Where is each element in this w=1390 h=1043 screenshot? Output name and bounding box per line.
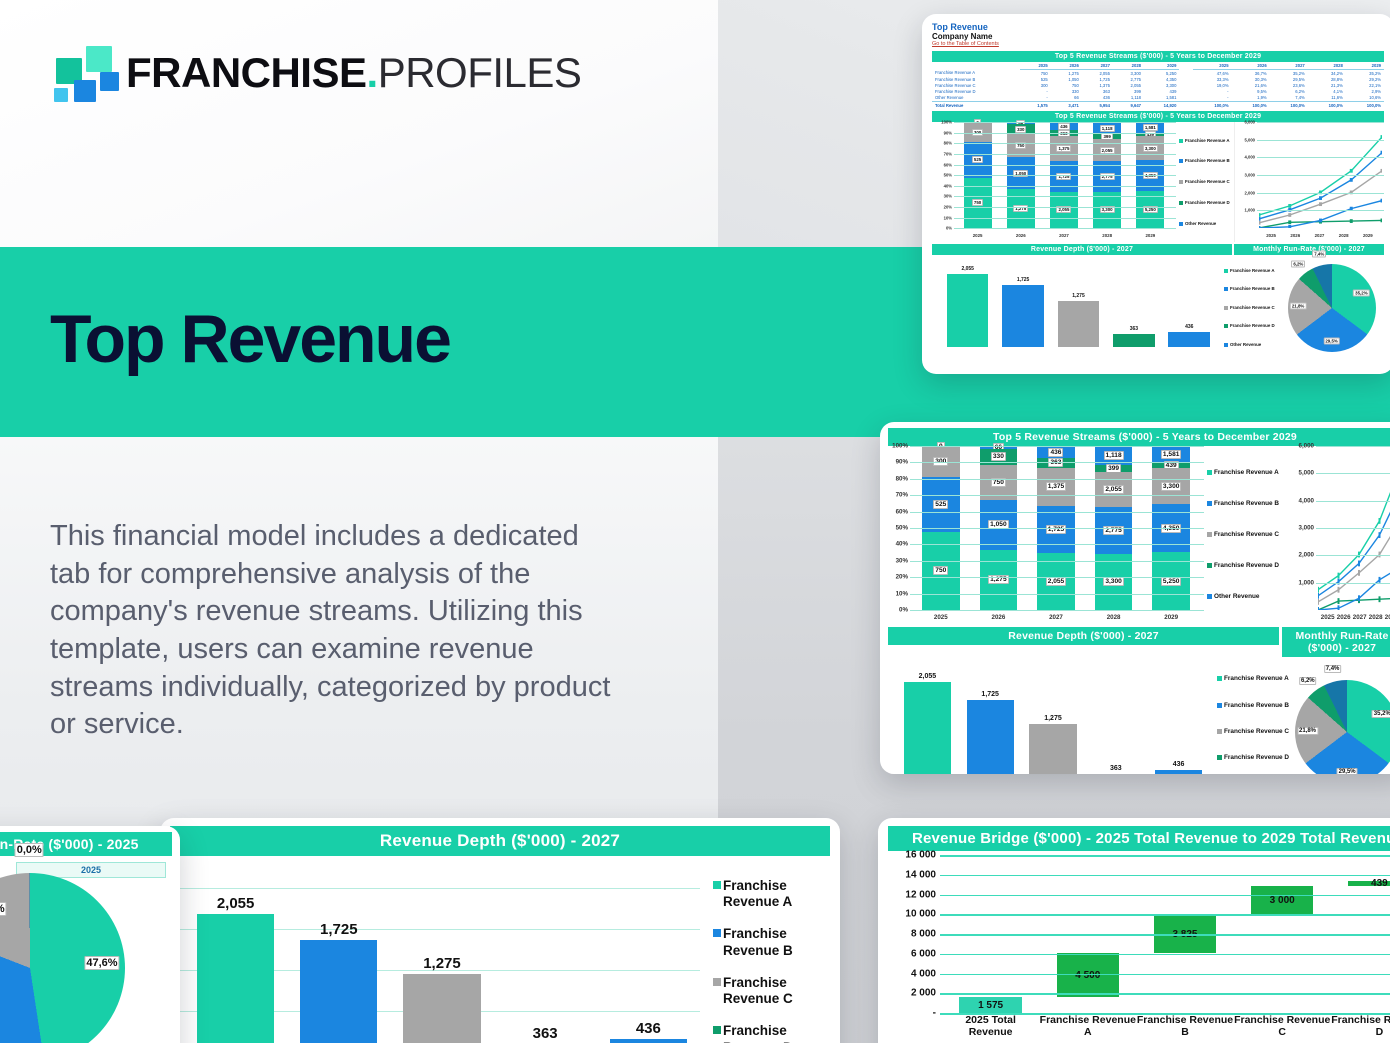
y-tick: 100% (892, 443, 908, 450)
legend-item-label: Franchise Revenue C (1214, 531, 1279, 539)
screenshot-card-revenue-depth: Revenue Depth ($'000) - 2027 2,055 1,725… (160, 818, 840, 1043)
depth-bar: 1,275 (403, 974, 480, 1043)
pie-slice-label: 29,5% (1337, 768, 1358, 774)
y-tick: 100% (941, 120, 952, 125)
stack-segment: 436 (1037, 446, 1074, 458)
pie-chart: 35,2%29,5%21,8%6,2%7,4% (1295, 680, 1390, 774)
legend-item: Franchise Revenue D (1207, 562, 1282, 570)
depth-bar-value: 1,725 (300, 921, 377, 938)
y-tick: 90% (896, 459, 908, 466)
revenue-bridge-plot: -2 0004 0006 0008 00010 00012 00014 0001… (888, 855, 1390, 1031)
legend-item: Franchise Revenue A (713, 878, 830, 911)
y-tick: 14 000 (905, 869, 936, 880)
legend-item: Franchise Revenue A (1217, 675, 1292, 683)
depth-bar-value: 436 (1155, 761, 1202, 768)
depth-bar: 1,725 (300, 940, 377, 1043)
stack-segment: 3,300 (1152, 468, 1189, 504)
table-col-header: 2025 (1020, 62, 1051, 70)
x-tick: 2026 (980, 614, 1017, 621)
x-tick: 2029 (1385, 614, 1390, 621)
pie-slice-label: 19,0% (0, 902, 7, 916)
depth-bar: 1,725 (1002, 285, 1044, 347)
legend-item-label: Franchise Revenue D (1214, 562, 1279, 570)
legend-swatch-icon (1207, 563, 1212, 568)
y-tick: 10% (896, 590, 908, 597)
legend-item-label: Franchise Revenue D (1224, 754, 1289, 762)
table-col-header-pct: 2029 (1346, 62, 1384, 70)
pie-slice-label: 0,0% (15, 843, 44, 857)
y-tick: 4 000 (911, 968, 936, 979)
y-tick: 40% (896, 541, 908, 548)
depth-bar: 2,055 (197, 914, 274, 1043)
legend-item-label: Franchise Revenue C (1224, 728, 1289, 736)
pie-slice-label: 7,4% (1324, 665, 1342, 673)
gridline (940, 895, 1390, 897)
x-tick: 2028 (1336, 233, 1352, 238)
legend-item-label: Other Revenue (1185, 221, 1216, 227)
depth-chart-banner-large: Revenue Depth ($'000) - 2027 (888, 627, 1279, 645)
y-tick: 60% (896, 508, 908, 515)
waterfall-bar: 3 000 (1251, 886, 1313, 916)
stack-segment: 2,055 (1037, 553, 1074, 610)
legend-item: Franchise Revenue C (1207, 531, 1282, 539)
legend-item: Franchise Revenue D (1179, 200, 1234, 206)
stacked-y-axis: 0%10%20%30%40%50%60%70%80%90%100% (932, 122, 954, 228)
legend-item-label: Franchise Revenue B (1185, 158, 1230, 164)
legend-swatch-icon (713, 978, 721, 986)
legend-item-label: Franchise Revenue A (1230, 268, 1275, 274)
y-tick: 2,000 (1245, 190, 1255, 195)
depth-bar: 436 (610, 1039, 687, 1043)
depth-bar-chart: 2,055 1,725 1,275 363 436 (932, 255, 1221, 360)
y-tick: 70% (896, 492, 908, 499)
depth-bar: 436 (1155, 770, 1202, 774)
legend-item: Other Revenue (1207, 593, 1282, 601)
x-tick: 2026 (1287, 233, 1303, 238)
x-tick: 2025 (1321, 614, 1331, 621)
bridge-y-axis: -2 0004 0006 0008 00010 00012 00014 0001… (888, 855, 940, 1013)
legend-item-label: Franchise Revenue B (1230, 286, 1275, 292)
table-total-row: Total Revenue 1,5753,4715,9549,64714,920… (932, 101, 1384, 108)
y-tick: 20% (896, 574, 908, 581)
gridline (940, 974, 1390, 976)
gridline (940, 1013, 1390, 1015)
waterfall-bar-value: 1 575 (978, 1000, 1003, 1011)
y-tick: 1,000 (1245, 208, 1255, 213)
x-tick: Franchise Revenue C (1234, 1014, 1331, 1031)
y-tick: 90% (944, 130, 952, 135)
legend-item: Other Revenue (1179, 221, 1234, 227)
table-col-header: 2028 (1113, 62, 1144, 70)
stack-segment: 525 (922, 477, 959, 532)
legend-item: Franchise Revenue D (713, 1023, 830, 1043)
pie-slice-label: 35,2% (1372, 710, 1390, 718)
depth-bar: 2,055 (904, 682, 951, 774)
y-tick: 0% (946, 226, 952, 231)
table-col-header: 2026 (1051, 62, 1082, 70)
depth-bar-value: 1,275 (1029, 715, 1076, 722)
brand-logo: FRANCHISE.PROFILES (48, 44, 581, 102)
page-description: This financial model includes a dedicate… (50, 518, 620, 744)
stacked-column-chart: 0%10%20%30%40%50%60%70%80%90%100% 003005… (932, 122, 1234, 242)
legend-item-label: Franchise Revenue D (723, 1023, 830, 1043)
stacked-x-axis: 20252026202720282029 (956, 229, 1172, 242)
stack-segment: 2,055 (1093, 139, 1121, 162)
y-tick: 20% (944, 204, 952, 209)
legend-item-label: Franchise Revenue B (1224, 702, 1289, 710)
legend-swatch-icon (1224, 269, 1228, 273)
y-tick: 1,000 (1299, 579, 1314, 586)
y-tick: 5,000 (1245, 137, 1255, 142)
stack-segment: 525 (964, 142, 992, 177)
depth-chart-legend-large: Franchise Revenue A Franchise Revenue B … (1214, 657, 1292, 774)
x-tick: 2029 (1136, 233, 1164, 238)
y-tick: 80% (944, 141, 952, 146)
x-tick: 2025 (1263, 233, 1279, 238)
legend-item: Franchise Revenue C (713, 975, 830, 1008)
stacked-y-axis-large: 0%10%20%30%40%50%60%70%80%90%100% (888, 446, 910, 610)
stack-segment: 1,375 (1037, 468, 1074, 506)
legend-item: Other Revenue (1224, 342, 1279, 348)
x-tick: Franchise Revenue D (1331, 1014, 1390, 1031)
x-tick: 2028 (1093, 233, 1121, 238)
depth-bar: 363 (1113, 334, 1155, 347)
legend-item: Franchise Revenue C (1217, 728, 1292, 736)
logo-word-light: PROFILES (378, 49, 582, 96)
depth-bar-value: 1,725 (967, 691, 1014, 698)
table-row: Other Revenue -664361,1181,581 -1,9%7,4%… (932, 95, 1384, 102)
legend-item: Franchise Revenue B (1207, 500, 1282, 508)
depth-bar-value: 363 (1092, 765, 1139, 772)
table-of-contents-link[interactable]: Go to the Table of Contents (932, 41, 1384, 47)
stacked-column-chart-large: 0%10%20%30%40%50%60%70%80%90%100% 003005… (888, 446, 1282, 624)
pie-chart: 47,6%33,3%19,0%0,0%0,0% (0, 873, 125, 1043)
legend-swatch-icon (1224, 306, 1228, 310)
x-tick: 2026 (1337, 614, 1347, 621)
pie-slice-label: 35,2% (1353, 289, 1369, 296)
y-tick: 4,000 (1299, 497, 1314, 504)
pie-slice-label: 7,4% (1312, 251, 1326, 258)
waterfall-bar-value: 3 000 (1270, 895, 1295, 906)
legend-item: Franchise Revenue B (1179, 158, 1234, 164)
legend-item: Franchise Revenue A (1224, 268, 1279, 274)
y-tick: 3,000 (1245, 173, 1255, 178)
screenshot-card-detail: Top 5 Revenue Streams ($'000) - 5 Years … (880, 422, 1390, 774)
y-tick: 4,000 (1245, 155, 1255, 160)
x-tick: 2027 (1050, 233, 1078, 238)
y-tick: 10% (944, 215, 952, 220)
depth-bar-value: 1,275 (1058, 293, 1100, 299)
legend-item: Franchise Revenue B (1217, 702, 1292, 710)
legend-swatch-icon (1224, 324, 1228, 328)
y-tick: 6,000 (1299, 443, 1314, 450)
table-col-header: 2029 (1144, 62, 1179, 70)
y-tick: 30% (896, 557, 908, 564)
legend-swatch-icon (1224, 287, 1228, 291)
screenshot-card-run-rate-pie: Monthly Run-Rate ($'000) - 2025 2025 47,… (0, 826, 180, 1043)
table-col-header-pct: 2027 (1270, 62, 1308, 70)
depth-bar-value: 2,055 (197, 895, 274, 912)
waterfall-bar: 1 575 (959, 997, 1021, 1013)
stack-segment: 1,050 (980, 500, 1017, 550)
revenue-table: 2025202620272028202920252026202720282029… (932, 62, 1384, 108)
waterfall-bar-value: 439 (1371, 878, 1388, 889)
stack-segment: 1,375 (1050, 136, 1078, 160)
legend-swatch-icon (1179, 222, 1183, 226)
pie-slice-label: 6,2% (1291, 261, 1305, 268)
run-rate-line-chart: 1,0002,0003,0004,0005,0006,000 202520262… (1234, 122, 1384, 242)
logo-dot: . (367, 49, 378, 96)
y-tick: 2 000 (911, 988, 936, 999)
runrate-chart-banner: Monthly Run-Rate ($'000) - 2027 (1234, 244, 1384, 255)
x-tick: 2028 (1369, 614, 1379, 621)
gridline (940, 875, 1390, 877)
stack-segment: 2,775 (1095, 507, 1132, 554)
table-row-label: Other Revenue (932, 95, 1020, 102)
legend-item: Franchise Revenue B (1224, 286, 1279, 292)
stack-segment: 2,055 (1095, 472, 1132, 507)
legend-swatch-icon (1224, 343, 1228, 347)
y-tick: 5,000 (1299, 470, 1314, 477)
legend-item: Franchise Revenue C (1224, 305, 1279, 311)
legend-swatch-icon (1179, 180, 1183, 184)
x-tick: 2029 (1152, 614, 1189, 621)
legend-item: Franchise Revenue A (1179, 138, 1234, 144)
line-y-axis: 1,0002,0003,0004,0005,0006,000 (1235, 122, 1257, 228)
revenue-depth-legend: Franchise Revenue A Franchise Revenue B … (710, 862, 830, 1043)
legend-item: Franchise Revenue D (1224, 323, 1279, 329)
pie-slice-label: 47,6% (84, 956, 119, 970)
y-tick: 6 000 (911, 948, 936, 959)
y-tick: 30% (944, 194, 952, 199)
line-x-axis-large: 20252026202720282029 (1318, 611, 1390, 624)
legend-item-label: Franchise Revenue C (723, 975, 830, 1008)
legend-swatch-icon (1207, 470, 1212, 475)
depth-bar: 436 (1168, 332, 1210, 348)
x-tick: 2027 (1037, 614, 1074, 621)
legend-item-label: Franchise Revenue B (723, 926, 830, 959)
legend-item-label: Franchise Revenue C (1185, 179, 1230, 185)
gridline (940, 914, 1390, 916)
legend-item-label: Franchise Revenue A (1185, 138, 1230, 144)
stacked-chart-banner: Top 5 Revenue Streams ($'000) - 5 Years … (932, 111, 1384, 122)
logo-wordmark: FRANCHISE.PROFILES (126, 49, 581, 97)
legend-item-label: Franchise Revenue D (1230, 323, 1275, 329)
revenue-depth-plot: 2,055 1,725 1,275 363 436 (170, 862, 710, 1043)
stacked-chart-legend: Franchise Revenue A Franchise Revenue B … (1176, 122, 1234, 242)
waterfall-bar-value: 4 500 (1075, 970, 1100, 981)
depth-bar-value: 1,725 (1002, 277, 1044, 283)
stack-segment: 3,300 (1136, 136, 1164, 159)
y-tick: 2,000 (1299, 552, 1314, 559)
x-tick: 2027 (1312, 233, 1328, 238)
legend-swatch-icon (1217, 703, 1222, 708)
depth-chart-banner: Revenue Depth ($'000) - 2027 (932, 244, 1232, 255)
y-tick: 6,000 (1245, 120, 1255, 125)
legend-swatch-icon (713, 929, 721, 937)
stack-segment: 1,275 (980, 550, 1017, 610)
x-tick: 2026 (1007, 233, 1035, 238)
depth-bar: 1,275 (1058, 301, 1100, 347)
x-tick: 2028 (1095, 614, 1132, 621)
line-y-axis-large: 1,0002,0003,0004,0005,0006,000 (1282, 446, 1316, 610)
legend-swatch-icon (1207, 532, 1212, 537)
table-col-header-pct: 2025 (1193, 62, 1231, 70)
y-tick: 10 000 (905, 909, 936, 920)
runrate-chart-banner-large: Monthly Run-Rate ($'000) - 2027 (1282, 627, 1390, 657)
waterfall-bar: 439 (1348, 881, 1390, 885)
gridline (940, 855, 1390, 857)
slide-canvas: FRANCHISE.PROFILES Top Revenue This fina… (0, 0, 1390, 1043)
legend-item-label: Franchise Revenue A (723, 878, 830, 911)
waterfall-bar: 4 500 (1057, 953, 1119, 997)
table-col-header-pct: 2026 (1232, 62, 1270, 70)
table-header-banner: Top 5 Revenue Streams ($'000) - 5 Years … (932, 51, 1384, 62)
gridline (940, 954, 1390, 956)
stacked-chart-legend-large: Franchise Revenue A Franchise Revenue B … (1204, 446, 1282, 624)
legend-item-label: Other Revenue (1230, 342, 1261, 348)
legend-item-label: Other Revenue (1214, 593, 1259, 601)
depth-bar-value: 1,275 (403, 955, 480, 972)
pie-slice-label: 6,2% (1299, 677, 1317, 685)
stacked-x-axis-large: 20252026202720282029 (912, 611, 1200, 624)
logo-mark-icon (48, 44, 110, 102)
table-row: Franchise Revenue A 7501,2752,0553,3005,… (932, 70, 1384, 77)
y-tick: 3,000 (1299, 525, 1314, 532)
gridline (940, 993, 1390, 995)
legend-item-label: Franchise Revenue C (1230, 305, 1275, 311)
x-tick: 2027 (1353, 614, 1363, 621)
revenue-depth-title: Revenue Depth ($'000) - 2027 (170, 826, 830, 856)
revenue-split-pie-large: 35,2%29,5%21,8%6,2%7,4% (1292, 657, 1390, 774)
depth-bar-value: 436 (610, 1020, 687, 1037)
depth-bar-value: 2,055 (947, 266, 989, 272)
depth-bar-value: 363 (1113, 326, 1155, 332)
depth-bar: 2,055 (947, 274, 989, 348)
y-tick: 40% (944, 183, 952, 188)
y-tick: 80% (896, 475, 908, 482)
run-rate-line-chart-large: 1,0002,0003,0004,0005,0006,000 202520262… (1282, 446, 1390, 624)
revenue-split-pie: 35,2%29,5%21,8%6,2%7,4% (1279, 255, 1384, 360)
stack-segment: 1,725 (1037, 506, 1074, 554)
table-col-header: 2027 (1082, 62, 1113, 70)
x-tick: 2025 (922, 614, 959, 621)
legend-swatch-icon (1207, 594, 1212, 599)
y-tick: 12 000 (905, 889, 936, 900)
stacked-chart-banner-large: Top 5 Revenue Streams ($'000) - 5 Years … (888, 428, 1390, 446)
depth-chart-banner-wrap: Revenue Depth ($'000) - 2027 (932, 244, 1232, 255)
depth-bar: 1,275 (1029, 724, 1076, 774)
x-tick: Franchise Revenue B (1136, 1014, 1233, 1031)
y-tick: - (933, 1008, 936, 1019)
legend-swatch-icon (1217, 729, 1222, 734)
y-tick: 8 000 (911, 929, 936, 940)
y-tick: 50% (896, 525, 908, 532)
legend-swatch-icon (1179, 159, 1183, 163)
stack-segment: 399 (1095, 465, 1132, 472)
logo-word-bold: FRANCHISE (126, 49, 367, 96)
pie-slice-label: 21,8% (1290, 303, 1306, 310)
pie-chart: 35,2%29,5%21,8%6,2%7,4% (1288, 264, 1376, 352)
legend-item-label: Franchise Revenue D (1185, 200, 1230, 206)
legend-item: Franchise Revenue A (1207, 469, 1282, 477)
depth-bar-value: 436 (1168, 324, 1210, 330)
bridge-x-axis: 2025 Total RevenueFranchise Revenue AFra… (942, 1014, 1390, 1031)
x-tick: 2025 (964, 233, 992, 238)
legend-swatch-icon (1217, 755, 1222, 760)
table-col-header-pct: 2028 (1308, 62, 1346, 70)
stack-segment: 3,300 (1095, 554, 1132, 610)
x-tick: 2029 (1360, 233, 1376, 238)
depth-bar-chart-large: 2,055 1,725 1,275 363 436 (888, 657, 1214, 774)
depth-bar-value: 2,055 (904, 673, 951, 680)
depth-bar-value: 363 (506, 1025, 583, 1042)
y-tick: 70% (944, 151, 952, 156)
legend-item-label: Franchise Revenue A (1214, 469, 1279, 477)
x-tick: Franchise Revenue A (1039, 1014, 1136, 1031)
depth-bar: 1,725 (967, 700, 1014, 774)
sheet-subtitle: Company Name (932, 32, 1384, 41)
screenshot-card-overview: Top Revenue Company Name Go to the Table… (922, 14, 1390, 374)
legend-swatch-icon (1179, 201, 1183, 205)
gridline (940, 934, 1390, 936)
legend-item: Franchise Revenue D (1217, 754, 1292, 762)
pie-slice-label: 29,5% (1323, 338, 1339, 345)
y-tick: 60% (944, 162, 952, 167)
background-panel-top-left (0, 0, 718, 247)
table-row-label: Franchise Revenue A (932, 70, 1020, 77)
screenshot-card-revenue-bridge: Revenue Bridge ($'000) - 2025 Total Reve… (878, 818, 1390, 1043)
stack-segment: 1,050 (1007, 157, 1035, 189)
stack-segment: 1,275 (1007, 189, 1035, 228)
legend-item-label: Franchise Revenue B (1214, 500, 1279, 508)
x-tick: 2025 Total Revenue (942, 1014, 1039, 1031)
runrate-banner-wrap: Monthly Run-Rate ($'000) - 2027 (1234, 244, 1384, 255)
pie-slice-label: 21,8% (1297, 727, 1318, 735)
legend-item: Franchise Revenue B (713, 926, 830, 959)
y-tick: 0% (899, 607, 908, 614)
depth-chart-legend: Franchise Revenue A Franchise Revenue B … (1221, 255, 1279, 360)
page-title: Top Revenue (50, 305, 450, 373)
stack-segment: 2,775 (1093, 161, 1121, 191)
legend-item-label: Franchise Revenue A (1224, 675, 1289, 683)
revenue-bridge-title: Revenue Bridge ($'000) - 2025 Total Reve… (888, 826, 1390, 851)
legend-swatch-icon (1217, 676, 1222, 681)
legend-swatch-icon (713, 881, 721, 889)
sheet-title: Top Revenue (932, 22, 1384, 32)
y-tick: 16 000 (905, 850, 936, 861)
legend-item: Franchise Revenue C (1179, 179, 1234, 185)
legend-swatch-icon (1207, 501, 1212, 506)
stack-segment: 436 (1050, 122, 1078, 130)
line-x-axis: 20252026202720282029 (1259, 229, 1380, 242)
line-series-group-large (1318, 448, 1390, 610)
legend-swatch-icon (713, 1026, 721, 1034)
y-tick: 50% (944, 173, 952, 178)
legend-swatch-icon (1179, 139, 1183, 143)
